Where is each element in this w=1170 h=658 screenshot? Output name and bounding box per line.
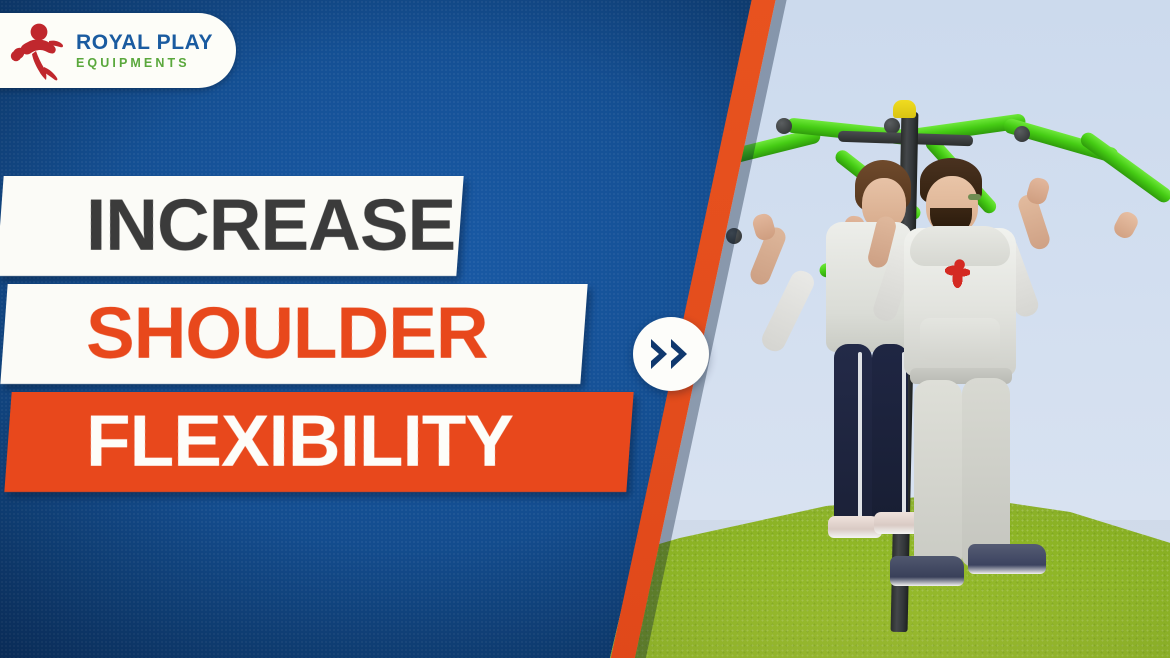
headline-line-3: FLEXIBILITY — [86, 392, 630, 492]
person-front-sweatpant-left — [914, 380, 962, 566]
person-front-glasses-icon — [968, 194, 981, 200]
person-front-shoe-left — [890, 556, 964, 586]
brand-name-primary: ROYAL PLAY — [76, 32, 213, 53]
equipment-joint-right-icon — [1014, 126, 1030, 142]
brand-logo[interactable]: ROYAL PLAY EQUIPMENTS — [0, 13, 236, 88]
person-front-shoe-right — [968, 544, 1046, 574]
person-front-hoodie-pocket — [920, 318, 1000, 360]
headline-band-increase: INCREASE — [0, 176, 464, 276]
headline-line-2: SHOULDER — [86, 284, 584, 384]
next-button[interactable] — [633, 317, 709, 391]
headline-band-flexibility: FLEXIBILITY — [4, 392, 633, 492]
headline-line-1: INCREASE — [86, 176, 460, 276]
headline-band-shoulder: SHOULDER — [0, 284, 587, 384]
brand-logo-wordmark: ROYAL PLAY EQUIPMENTS — [76, 32, 213, 70]
equipment-joint-left-top-icon — [776, 118, 792, 134]
person-front-hoodie-mascot-logo-icon — [944, 258, 970, 288]
running-child-mascot-icon — [8, 20, 74, 82]
headline-group: INCREASE SHOULDER FLEXIBILITY — [0, 176, 630, 500]
grip-hand-far-right — [1111, 209, 1141, 241]
equipment-post-cap-icon — [893, 100, 916, 118]
equipment-arm-right-lower-icon — [1078, 130, 1170, 206]
person-back-pant-stripe-right — [902, 352, 906, 520]
brand-name-secondary: EQUIPMENTS — [76, 57, 213, 70]
person-front-sweatpant-right — [962, 378, 1010, 566]
person-back-pant-left — [834, 344, 872, 524]
promo-banner: ROYAL PLAY EQUIPMENTS INCREASE SHOULDER … — [0, 0, 1170, 658]
double-chevron-right-icon — [649, 337, 693, 371]
person-back-pant-stripe-left — [858, 352, 862, 520]
